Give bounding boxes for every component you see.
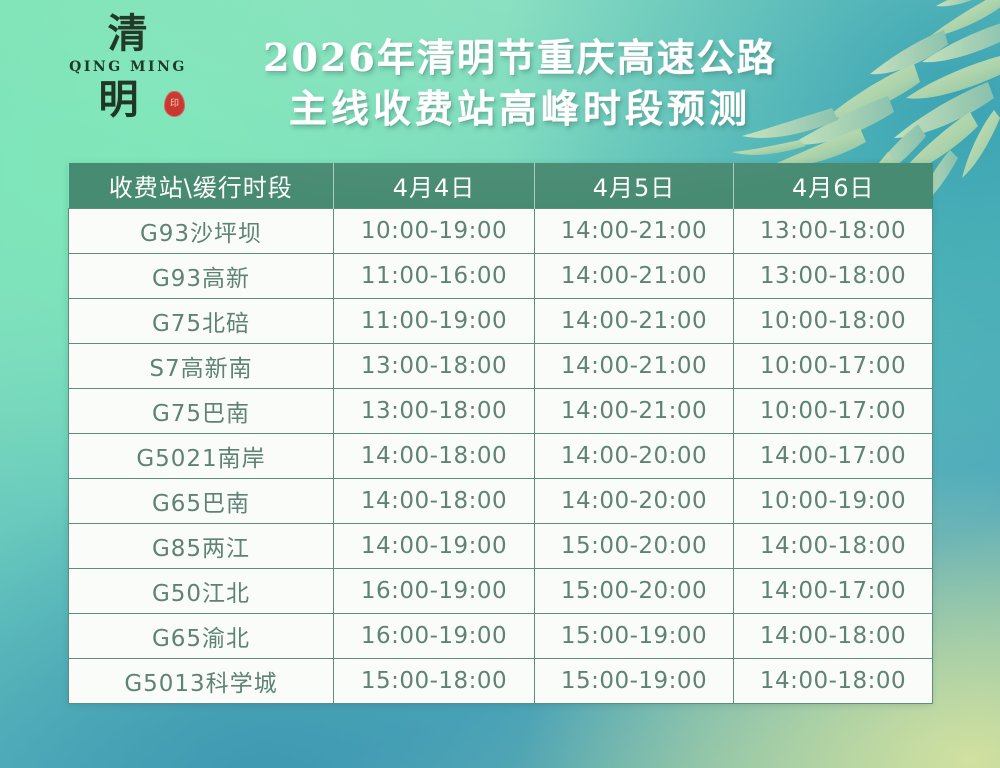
apr5-cell: 15:00-20:00 bbox=[535, 569, 734, 614]
apr6-cell: 10:00-18:00 bbox=[734, 299, 933, 344]
apr6-cell: 10:00-17:00 bbox=[734, 344, 933, 389]
apr6-cell: 13:00-18:00 bbox=[734, 209, 933, 254]
station-cell: G65巴南 bbox=[69, 479, 334, 524]
table-row: G85两江14:00-19:0015:00-20:0014:00-18:00 bbox=[69, 524, 933, 569]
logo-bottom-wrap: 明 印 bbox=[63, 77, 193, 125]
title-line-2: 主线收费站高峰时段预测 bbox=[200, 83, 840, 134]
table-row: G5013科学城15:00-18:0015:00-19:0014:00-18:0… bbox=[69, 659, 933, 704]
qingming-logo: 清 QING MING 明 印 bbox=[63, 12, 193, 138]
apr4-cell: 10:00-19:00 bbox=[334, 209, 535, 254]
apr4-cell: 14:00-18:00 bbox=[334, 479, 535, 524]
apr6-cell: 14:00-18:00 bbox=[734, 659, 933, 704]
table-row: G50江北16:00-19:0015:00-20:0014:00-17:00 bbox=[69, 569, 933, 614]
seal-stamp-icon: 印 bbox=[164, 91, 185, 117]
table-row: G75巴南13:00-18:0014:00-21:0010:00-17:00 bbox=[69, 389, 933, 434]
apr5-cell: 14:00-20:00 bbox=[535, 434, 734, 479]
station-cell: G65渝北 bbox=[69, 614, 334, 659]
logo-char-top: 清 bbox=[63, 12, 193, 56]
table-row: G65渝北16:00-19:0015:00-19:0014:00-18:00 bbox=[69, 614, 933, 659]
apr6-cell: 13:00-18:00 bbox=[734, 254, 933, 299]
station-cell: G93高新 bbox=[69, 254, 334, 299]
column-header-apr4: 4月4日 bbox=[334, 163, 535, 209]
seal-text: 印 bbox=[164, 91, 185, 117]
apr4-cell: 16:00-19:00 bbox=[334, 569, 535, 614]
table-row: G93沙坪坝10:00-19:0014:00-21:0013:00-18:00 bbox=[69, 209, 933, 254]
apr6-cell: 10:00-19:00 bbox=[734, 479, 933, 524]
station-cell: G93沙坪坝 bbox=[69, 209, 334, 254]
apr5-cell: 14:00-21:00 bbox=[535, 344, 734, 389]
apr4-cell: 14:00-19:00 bbox=[334, 524, 535, 569]
apr4-cell: 14:00-18:00 bbox=[334, 434, 535, 479]
table-body: G93沙坪坝10:00-19:0014:00-21:0013:00-18:00G… bbox=[69, 209, 933, 704]
apr4-cell: 16:00-19:00 bbox=[334, 614, 535, 659]
apr5-cell: 14:00-20:00 bbox=[535, 479, 734, 524]
poster-canvas: 清 QING MING 明 印 2026年清明节重庆高速公路 主线收费站高峰时段… bbox=[0, 0, 1000, 768]
column-header-apr5: 4月5日 bbox=[535, 163, 734, 209]
apr5-cell: 15:00-20:00 bbox=[535, 524, 734, 569]
schedule-table: 收费站\缓行时段 4月4日 4月5日 4月6日 G93沙坪坝10:00-19:0… bbox=[68, 163, 933, 704]
apr6-cell: 10:00-17:00 bbox=[734, 389, 933, 434]
apr6-cell: 14:00-17:00 bbox=[734, 434, 933, 479]
station-cell: S7高新南 bbox=[69, 344, 334, 389]
station-cell: G75北碚 bbox=[69, 299, 334, 344]
station-cell: G5021南岸 bbox=[69, 434, 334, 479]
station-cell: G85两江 bbox=[69, 524, 334, 569]
apr5-cell: 14:00-21:00 bbox=[535, 389, 734, 434]
apr6-cell: 14:00-18:00 bbox=[734, 524, 933, 569]
table-row: S7高新南13:00-18:0014:00-21:0010:00-17:00 bbox=[69, 344, 933, 389]
table-row: G75北碚11:00-19:0014:00-21:0010:00-18:00 bbox=[69, 299, 933, 344]
apr5-cell: 15:00-19:00 bbox=[535, 659, 734, 704]
station-cell: G5013科学城 bbox=[69, 659, 334, 704]
apr4-cell: 13:00-18:00 bbox=[334, 389, 535, 434]
station-cell: G75巴南 bbox=[69, 389, 334, 434]
apr5-cell: 15:00-19:00 bbox=[535, 614, 734, 659]
table-header-row: 收费站\缓行时段 4月4日 4月5日 4月6日 bbox=[69, 163, 933, 209]
station-cell: G50江北 bbox=[69, 569, 334, 614]
column-header-apr6: 4月6日 bbox=[734, 163, 933, 209]
apr4-cell: 15:00-18:00 bbox=[334, 659, 535, 704]
apr4-cell: 13:00-18:00 bbox=[334, 344, 535, 389]
table-row: G5021南岸14:00-18:0014:00-20:0014:00-17:00 bbox=[69, 434, 933, 479]
apr4-cell: 11:00-19:00 bbox=[334, 299, 535, 344]
logo-pinyin: QING MING bbox=[63, 57, 193, 77]
apr5-cell: 14:00-21:00 bbox=[535, 299, 734, 344]
table-head: 收费站\缓行时段 4月4日 4月5日 4月6日 bbox=[69, 163, 933, 209]
apr6-cell: 14:00-18:00 bbox=[734, 614, 933, 659]
schedule-table-wrapper: 收费站\缓行时段 4月4日 4月5日 4月6日 G93沙坪坝10:00-19:0… bbox=[68, 163, 932, 704]
page-title: 2026年清明节重庆高速公路 主线收费站高峰时段预测 bbox=[200, 32, 840, 134]
table-row: G65巴南14:00-18:0014:00-20:0010:00-19:00 bbox=[69, 479, 933, 524]
apr5-cell: 14:00-21:00 bbox=[535, 209, 734, 254]
apr6-cell: 14:00-17:00 bbox=[734, 569, 933, 614]
apr4-cell: 11:00-16:00 bbox=[334, 254, 535, 299]
apr5-cell: 14:00-21:00 bbox=[535, 254, 734, 299]
column-header-station: 收费站\缓行时段 bbox=[69, 163, 334, 209]
table-row: G93高新11:00-16:0014:00-21:0013:00-18:00 bbox=[69, 254, 933, 299]
title-line-1: 2026年清明节重庆高速公路 bbox=[200, 32, 840, 83]
